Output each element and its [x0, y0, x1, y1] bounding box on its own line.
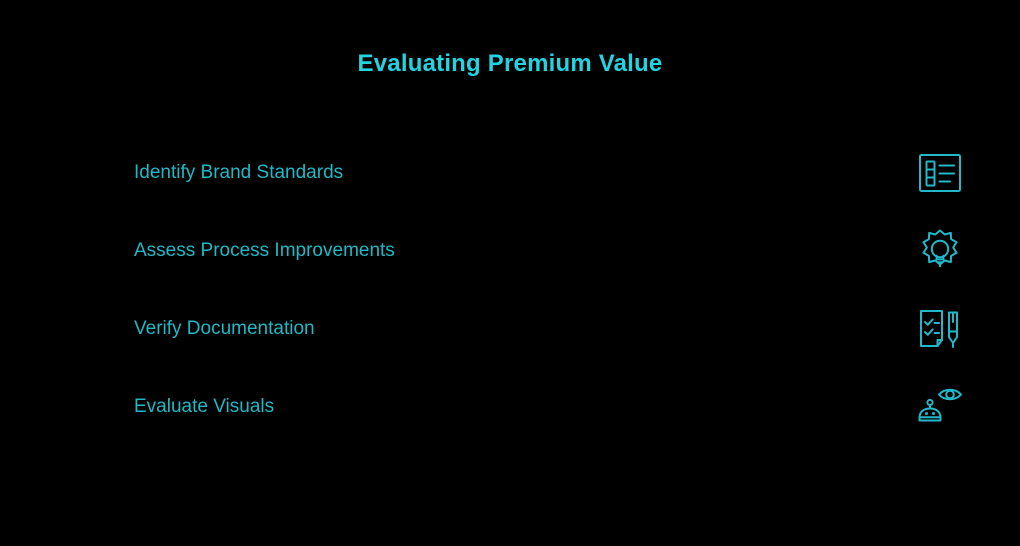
list-item-label: Evaluate Visuals — [134, 394, 274, 420]
gear-lightbulb-icon — [912, 223, 968, 279]
list-item[interactable]: Verify Documentation — [134, 290, 966, 368]
checklist-board-icon — [912, 145, 968, 201]
list-item-label: Verify Documentation — [134, 316, 315, 342]
slide-canvas: Evaluating Premium Value Identify Brand … — [0, 0, 1020, 546]
item-list: Identify Brand Standards Assess Process … — [134, 134, 966, 446]
list-item[interactable]: Evaluate Visuals — [134, 368, 966, 446]
list-item-label: Assess Process Improvements — [134, 238, 395, 264]
list-item[interactable]: Identify Brand Standards — [134, 134, 966, 212]
eye-robot-head-icon — [912, 379, 968, 435]
list-item-label: Identify Brand Standards — [134, 160, 343, 186]
list-item[interactable]: Assess Process Improvements — [134, 212, 966, 290]
page-title: Evaluating Premium Value — [0, 48, 1020, 80]
document-checkmarks-pen-icon — [912, 301, 968, 357]
